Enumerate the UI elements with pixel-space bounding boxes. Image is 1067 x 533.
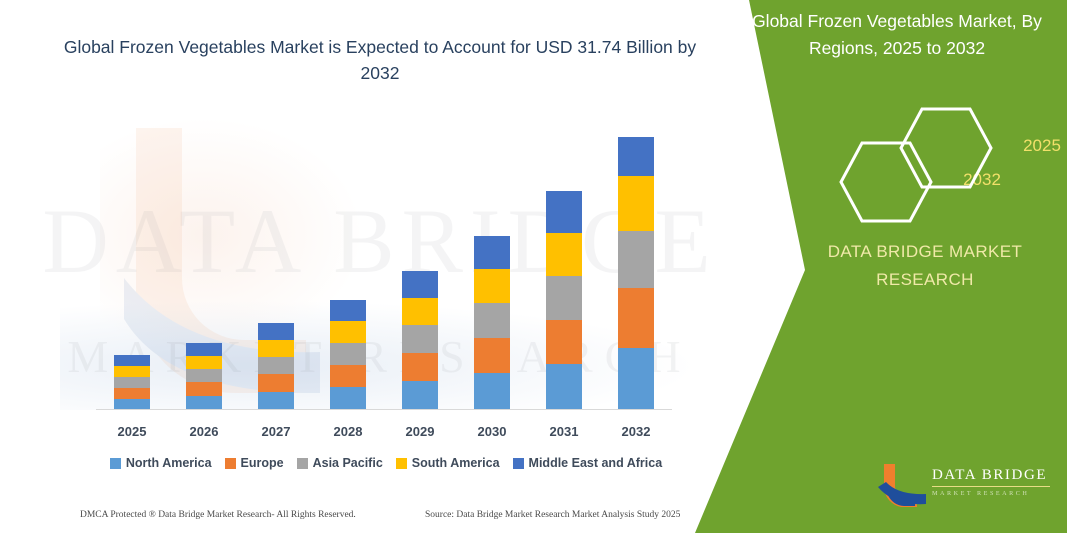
bar-segment[interactable] <box>114 388 150 399</box>
bar-segment[interactable] <box>258 340 294 357</box>
x-tick-2031: 2031 <box>528 424 600 439</box>
bar-segment[interactable] <box>258 357 294 374</box>
footer-copyright: DMCA Protected ® Data Bridge Market Rese… <box>80 510 356 520</box>
bar-segment[interactable] <box>618 137 654 176</box>
x-axis-ticks: 20252026202720282029203020312032 <box>96 418 672 440</box>
x-tick-2030: 2030 <box>456 424 528 439</box>
hexagon-icon <box>898 106 994 190</box>
hexagon-2025-label: 2025 <box>994 136 1067 156</box>
bar-2029[interactable] <box>402 271 438 410</box>
legend-label: Middle East and Africa <box>529 456 663 470</box>
legend-item[interactable]: Middle East and Africa <box>513 456 663 470</box>
legend-swatch-icon <box>225 458 236 469</box>
chart-legend: North AmericaEuropeAsia PacificSouth Ame… <box>96 456 676 470</box>
bar-segment[interactable] <box>114 366 150 377</box>
legend-item[interactable]: South America <box>396 456 500 470</box>
bar-segment[interactable] <box>186 396 222 410</box>
bar-2030[interactable] <box>474 236 510 410</box>
bar-segment[interactable] <box>474 373 510 410</box>
bar-2026[interactable] <box>186 343 222 410</box>
bar-segment[interactable] <box>186 382 222 396</box>
bar-segment[interactable] <box>402 353 438 381</box>
legend-label: Asia Pacific <box>313 456 383 470</box>
legend-swatch-icon <box>110 458 121 469</box>
x-tick-2027: 2027 <box>240 424 312 439</box>
bar-segment[interactable] <box>186 369 222 382</box>
footer-source: Source: Data Bridge Market Research Mark… <box>425 510 680 520</box>
bar-segment[interactable] <box>330 387 366 410</box>
bar-segment[interactable] <box>258 392 294 410</box>
chart-pane: DATA BRIDGE MARKET RESEARCH Global Froze… <box>0 0 760 533</box>
logo-name: DATA BRIDGE <box>932 466 1056 484</box>
bar-segment[interactable] <box>186 343 222 356</box>
bar-segment[interactable] <box>330 300 366 321</box>
bar-segment[interactable] <box>474 303 510 338</box>
legend-item[interactable]: Asia Pacific <box>297 456 383 470</box>
bar-segment[interactable] <box>114 377 150 388</box>
legend-swatch-icon <box>297 458 308 469</box>
x-tick-2029: 2029 <box>384 424 456 439</box>
bar-segment[interactable] <box>402 325 438 353</box>
logo-wordmark: DATA BRIDGE MARKET RESEARCH <box>932 466 1056 498</box>
legend-label: North America <box>126 456 212 470</box>
bar-segment[interactable] <box>546 276 582 320</box>
brand-name: DATA BRIDGE MARKET RESEARCH <box>790 238 1060 294</box>
bar-segment[interactable] <box>546 233 582 276</box>
x-tick-2025: 2025 <box>96 424 168 439</box>
brand-line-2: RESEARCH <box>790 266 1060 294</box>
bar-2027[interactable] <box>258 323 294 410</box>
logo-divider <box>932 486 1050 487</box>
bar-2025[interactable] <box>114 355 150 410</box>
brand-line-1: DATA BRIDGE MARKET <box>790 238 1060 266</box>
x-tick-2028: 2028 <box>312 424 384 439</box>
bar-2031[interactable] <box>546 191 582 410</box>
bar-segment[interactable] <box>618 231 654 288</box>
bar-segment[interactable] <box>402 381 438 410</box>
footer: DMCA Protected ® Data Bridge Market Rese… <box>0 508 720 528</box>
bar-segment[interactable] <box>546 320 582 364</box>
bar-segment[interactable] <box>402 271 438 298</box>
bar-segment[interactable] <box>258 323 294 340</box>
bar-segment[interactable] <box>258 374 294 392</box>
bar-2028[interactable] <box>330 300 366 410</box>
bar-segment[interactable] <box>474 269 510 303</box>
legend-item[interactable]: Europe <box>225 456 284 470</box>
bar-segment[interactable] <box>618 348 654 410</box>
legend-swatch-icon <box>396 458 407 469</box>
bar-segment[interactable] <box>618 176 654 231</box>
green-panel-heading: Global Frozen Vegetables Market, By Regi… <box>742 8 1052 62</box>
bar-segment[interactable] <box>330 321 366 343</box>
bar-segment[interactable] <box>114 355 150 366</box>
legend-item[interactable]: North America <box>110 456 212 470</box>
bar-segment[interactable] <box>402 298 438 325</box>
bar-segment[interactable] <box>618 288 654 348</box>
hexagon-2025: 2025 <box>898 106 994 190</box>
bar-segment[interactable] <box>330 365 366 387</box>
data-bridge-logo-icon <box>876 462 928 510</box>
logo-tagline: MARKET RESEARCH <box>932 489 1056 498</box>
infographic-root: DATA BRIDGE MARKET RESEARCH Global Froze… <box>0 0 1067 533</box>
legend-label: Europe <box>241 456 284 470</box>
bar-segment[interactable] <box>546 364 582 410</box>
bar-segment[interactable] <box>546 191 582 233</box>
bar-2032[interactable] <box>618 137 654 410</box>
bar-segment[interactable] <box>330 343 366 365</box>
company-logo: DATA BRIDGE MARKET RESEARCH <box>876 462 1056 512</box>
x-tick-2026: 2026 <box>168 424 240 439</box>
bar-segment[interactable] <box>474 338 510 373</box>
axis-baseline <box>96 409 672 410</box>
legend-label: South America <box>412 456 500 470</box>
bar-segment[interactable] <box>186 356 222 369</box>
bar-segment[interactable] <box>474 236 510 269</box>
x-tick-2032: 2032 <box>600 424 672 439</box>
legend-swatch-icon <box>513 458 524 469</box>
plot-area <box>96 120 672 410</box>
chart-title: Global Frozen Vegetables Market is Expec… <box>60 34 700 86</box>
